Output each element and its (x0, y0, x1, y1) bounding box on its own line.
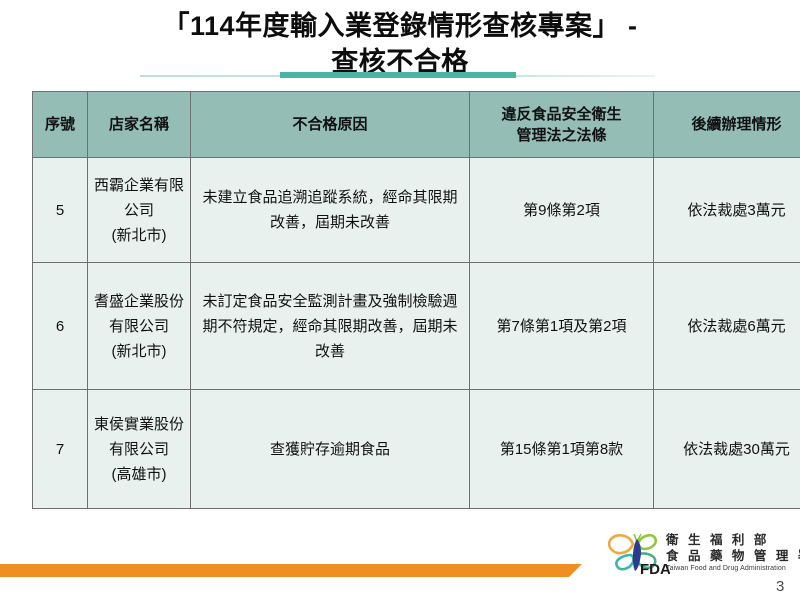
cell-violated-law: 第9條第2項 (470, 158, 654, 263)
cell-violated-law: 第7條第1項及第2項 (470, 263, 654, 390)
column-header-violated-law: 違反食品安全衛生 管理法之法條 (470, 92, 654, 158)
cell-store-name-line-1: 耆盛企業股份 (93, 289, 185, 314)
column-header-violated-law-line-2: 管理法之法條 (475, 125, 648, 146)
cell-failure-reason: 未建立食品追溯追蹤系統，經命其限期改善，屆期未改善 (191, 158, 470, 263)
cell-store-name-line-1: 東侯實業股份 (93, 412, 185, 437)
column-header-violated-law-line-1: 違反食品安全衛生 (475, 104, 648, 125)
organization-logo: FDA 衛 生 福 利 部 食 品 藥 物 管 理 署 Taiwan Food … (604, 530, 790, 580)
title-underline-accent (280, 72, 516, 78)
page-title: 「114年度輸入業登錄情形查核專案」 - 查核不合格 (0, 8, 800, 80)
fda-butterfly-icon: FDA (604, 530, 670, 578)
footer-accent-bar (0, 564, 582, 577)
column-header-failure-reason: 不合格原因 (191, 92, 470, 158)
cell-store-name-line-3: (高雄市) (93, 462, 185, 487)
table-row: 7 東侯實業股份 有限公司 (高雄市) 查獲貯存逾期食品 第15條第1項第8款 … (33, 390, 800, 509)
cell-violated-law: 第15條第1項第8款 (470, 390, 654, 509)
inspection-results-table: 序號 店家名稱 不合格原因 違反食品安全衛生 管理法之法條 後續辦理情形 5 西… (32, 91, 800, 509)
page-title-line-1: 「114年度輸入業登錄情形查核專案」 - (0, 8, 800, 44)
cell-store-name: 耆盛企業股份 有限公司 (新北市) (88, 263, 191, 390)
cell-follow-up: 依法裁處3萬元 (654, 158, 800, 263)
cell-store-name: 西霸企業有限 公司 (新北市) (88, 158, 191, 263)
cell-store-name-line-2: 公司 (93, 198, 185, 223)
cell-seq: 7 (33, 390, 88, 509)
organization-name-cn-line-2: 食 品 藥 物 管 理 署 (666, 548, 792, 564)
table-header-row: 序號 店家名稱 不合格原因 違反食品安全衛生 管理法之法條 後續辦理情形 (33, 92, 800, 158)
column-header-seq: 序號 (33, 92, 88, 158)
table-row: 6 耆盛企業股份 有限公司 (新北市) 未訂定食品安全監測計畫及強制檢驗週期不符… (33, 263, 800, 390)
column-header-store-name: 店家名稱 (88, 92, 191, 158)
cell-failure-reason: 查獲貯存逾期食品 (191, 390, 470, 509)
cell-seq: 6 (33, 263, 88, 390)
cell-store-name-line-3: (新北市) (93, 223, 185, 248)
cell-store-name-line-3: (新北市) (93, 339, 185, 364)
organization-name: 衛 生 福 利 部 食 品 藥 物 管 理 署 Taiwan Food and … (666, 532, 792, 574)
column-header-follow-up: 後續辦理情形 (654, 92, 800, 158)
table-header: 序號 店家名稱 不合格原因 違反食品安全衛生 管理法之法條 後續辦理情形 (33, 92, 800, 158)
cell-store-name-line-2: 有限公司 (93, 437, 185, 462)
organization-name-en: Taiwan Food and Drug Administration (666, 564, 792, 574)
cell-store-name-line-2: 有限公司 (93, 314, 185, 339)
organization-name-cn-line-1: 衛 生 福 利 部 (666, 532, 792, 548)
page-number: 3 (776, 578, 784, 595)
cell-failure-reason: 未訂定食品安全監測計畫及強制檢驗週期不符規定，經命其限期改善，屆期未改善 (191, 263, 470, 390)
cell-store-name-line-1: 西霸企業有限 (93, 173, 185, 198)
table-body: 5 西霸企業有限 公司 (新北市) 未建立食品追溯追蹤系統，經命其限期改善，屆期… (33, 158, 800, 509)
cell-follow-up: 依法裁處6萬元 (654, 263, 800, 390)
cell-follow-up: 依法裁處30萬元 (654, 390, 800, 509)
cell-seq: 5 (33, 158, 88, 263)
cell-store-name: 東侯實業股份 有限公司 (高雄市) (88, 390, 191, 509)
table-row: 5 西霸企業有限 公司 (新北市) 未建立食品追溯追蹤系統，經命其限期改善，屆期… (33, 158, 800, 263)
